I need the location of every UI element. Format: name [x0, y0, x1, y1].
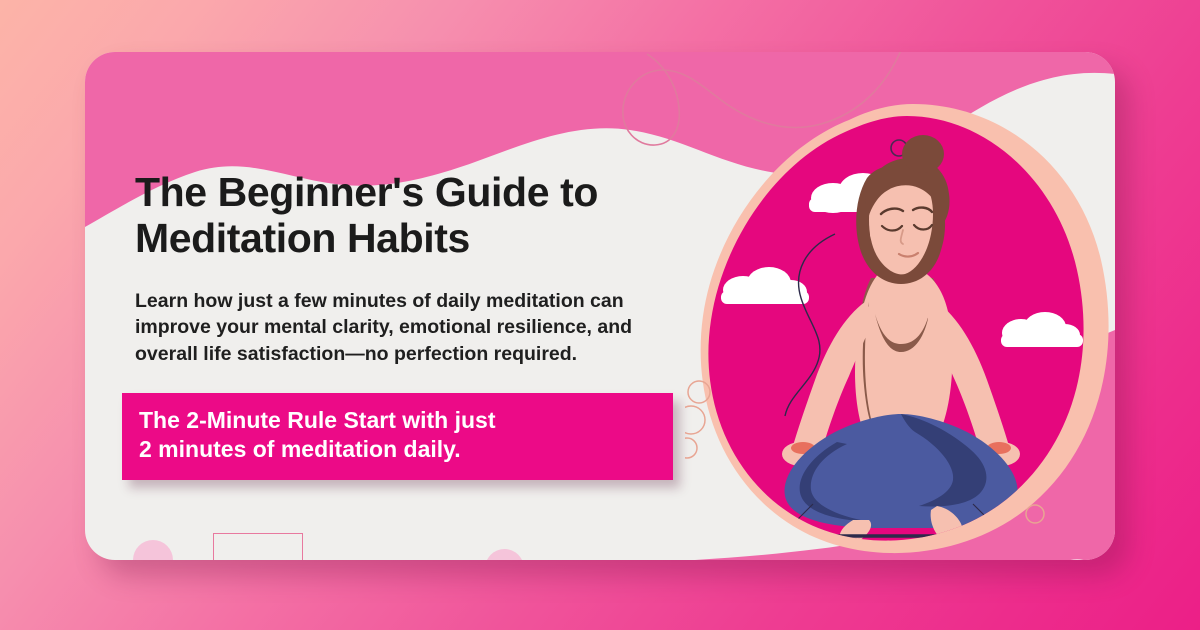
ring-decor-left-3: [685, 438, 697, 458]
callout-line-1: The 2-Minute Rule Start with just: [139, 406, 673, 435]
page-title: The Beginner's Guide to Meditation Habit…: [135, 170, 715, 262]
page-subtitle: Learn how just a few minutes of daily me…: [135, 288, 680, 368]
content-card: The Beginner's Guide to Meditation Habit…: [85, 52, 1115, 560]
ring-decor-bottom-right: [1026, 505, 1044, 523]
decor-circle-large-mid: [485, 549, 524, 560]
ring-decor-left-2: [685, 406, 705, 434]
banner-stage: The Beginner's Guide to Meditation Habit…: [0, 0, 1200, 630]
highlight-callout: The 2-Minute Rule Start with just 2 minu…: [122, 393, 673, 480]
decor-rect-upper: [213, 533, 303, 560]
figure-hair-bun: [902, 135, 944, 173]
decor-circle-large-left: [133, 540, 173, 560]
callout-line-2: 2 minutes of meditation daily.: [139, 435, 673, 464]
meditation-illustration: [685, 102, 1115, 560]
figure-ear: [870, 225, 884, 243]
copy-block: The Beginner's Guide to Meditation Habit…: [135, 170, 715, 367]
